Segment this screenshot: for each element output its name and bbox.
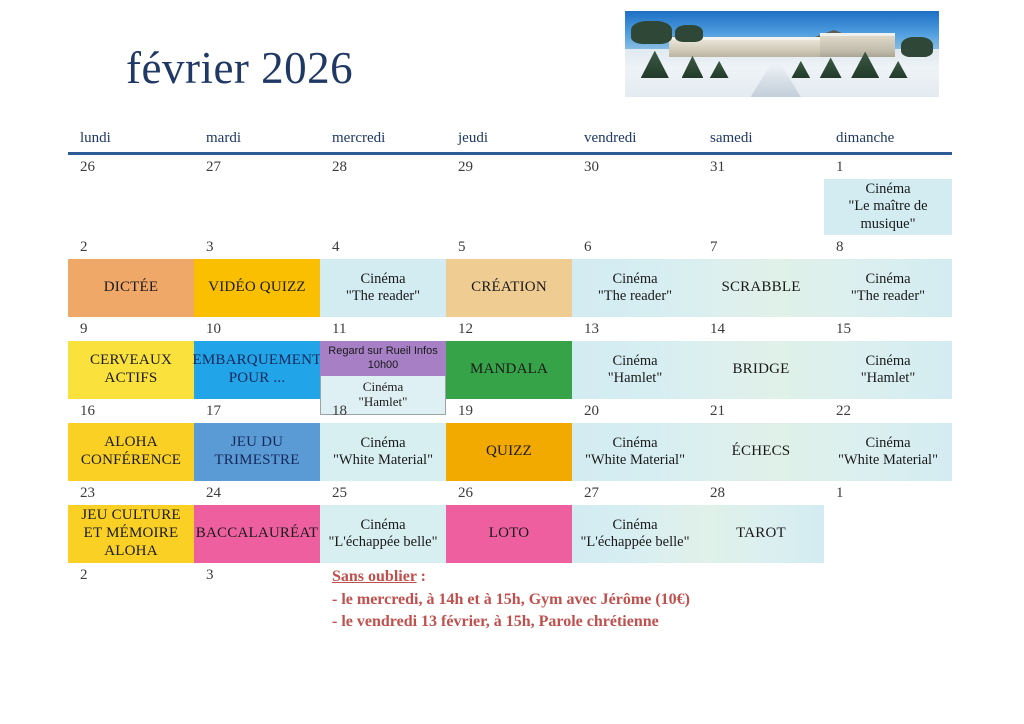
- day-cell[interactable]: 23JEU CULTUREET MÉMOIREALOHA: [68, 481, 194, 563]
- day-number: 27: [194, 155, 320, 179]
- chateau-snow-image: [625, 11, 939, 97]
- day-event-empty: [824, 587, 952, 645]
- day-cell[interactable]: 25Cinéma"L'échappée belle": [320, 481, 446, 563]
- event-line: ACTIFS: [105, 370, 158, 388]
- day-event[interactable]: CERVEAUXACTIFS: [68, 341, 194, 399]
- event-line: TRIMESTRE: [214, 452, 299, 470]
- day-cell[interactable]: 15Cinéma"Hamlet": [824, 317, 952, 399]
- day-number: 12: [446, 317, 572, 341]
- day-number: 18: [320, 399, 446, 423]
- weekday-header-vendredi: vendredi: [572, 130, 698, 152]
- day-event-empty: [446, 179, 572, 235]
- event-line: CRÉATION: [471, 279, 547, 297]
- event-line: SCRABBLE: [721, 279, 800, 297]
- event-line: Cinéma: [612, 271, 657, 288]
- day-cell[interactable]: 27: [194, 155, 320, 235]
- event-line: ALOHA: [104, 434, 158, 452]
- event-line: JEU CULTURE: [81, 507, 181, 525]
- day-number: 28: [698, 481, 824, 505]
- event-line: EMBARQUEMENT: [192, 352, 321, 370]
- day-event[interactable]: QUIZZ: [446, 423, 572, 481]
- day-cell[interactable]: 11Regard sur Rueil Infos10h00Cinéma"Haml…: [320, 317, 446, 399]
- event-line: musique": [860, 216, 915, 233]
- day-number: 3: [194, 563, 320, 587]
- event-line: "The reader": [851, 288, 925, 305]
- event-line: ET MÉMOIRE: [84, 525, 179, 543]
- day-number: 31: [698, 155, 824, 179]
- day-number: 26: [446, 481, 572, 505]
- event-line: "L'échappée belle": [328, 534, 437, 551]
- day-event[interactable]: LOTO: [446, 505, 572, 563]
- day-event-empty: [320, 179, 446, 235]
- event-line: TAROT: [736, 525, 786, 543]
- calendar-week-row: 16ALOHACONFÉRENCE17JEU DUTRIMESTRE18Ciné…: [68, 399, 952, 481]
- day-number: 9: [68, 317, 194, 341]
- calendar-week-row: 9CERVEAUXACTIFS10EMBARQUEMENTPOUR ...11R…: [68, 317, 952, 399]
- note-heading-suffix: :: [417, 568, 426, 585]
- event-line: POUR ...: [229, 370, 286, 388]
- day-number: 6: [572, 235, 698, 259]
- day-number: 28: [320, 155, 446, 179]
- day-cell[interactable]: 4Cinéma"The reader": [320, 235, 446, 317]
- event-line: BACCALAURÉAT: [196, 525, 318, 543]
- day-event[interactable]: JEU DUTRIMESTRE: [194, 423, 320, 481]
- day-cell[interactable]: 19QUIZZ: [446, 399, 572, 481]
- event-line: MANDALA: [470, 361, 548, 379]
- day-number: 4: [320, 235, 446, 259]
- day-number: 2: [68, 563, 194, 587]
- bare-tree-icon: [631, 21, 672, 43]
- day-cell[interactable]: 26: [68, 155, 194, 235]
- event-line: Cinéma: [612, 435, 657, 452]
- day-event[interactable]: Cinéma"White Material": [824, 423, 952, 481]
- day-cell[interactable]: 27Cinéma"L'échappée belle": [572, 481, 698, 563]
- day-number: 3: [194, 235, 320, 259]
- weekday-header-dimanche: dimanche: [824, 130, 952, 152]
- day-event[interactable]: EMBARQUEMENTPOUR ...: [194, 341, 320, 399]
- day-event[interactable]: Cinéma"L'échappée belle": [320, 505, 446, 563]
- event-line: Cinéma: [360, 517, 405, 534]
- day-number: 1: [824, 155, 952, 179]
- day-cell[interactable]: 18Cinéma"White Material": [320, 399, 446, 481]
- weekday-header-samedi: samedi: [698, 130, 824, 152]
- event-line: BRIDGE: [732, 361, 789, 379]
- event-line: 10h00: [322, 358, 444, 372]
- day-event[interactable]: Cinéma"L'échappée belle": [572, 505, 698, 563]
- weekday-header-mardi: mardi: [194, 130, 320, 152]
- day-event[interactable]: ALOHACONFÉRENCE: [68, 423, 194, 481]
- day-number: 15: [824, 317, 952, 341]
- event-line: Cinéma: [865, 271, 910, 288]
- event-line: "White Material": [333, 452, 433, 469]
- event-line: "Hamlet": [608, 370, 663, 387]
- day-number: 14: [698, 317, 824, 341]
- day-event[interactable]: Cinéma"The reader": [824, 259, 952, 317]
- day-event[interactable]: Cinéma"White Material": [572, 423, 698, 481]
- day-number: 16: [68, 399, 194, 423]
- day-cell[interactable]: 16ALOHACONFÉRENCE: [68, 399, 194, 481]
- day-event-empty: [698, 587, 824, 645]
- calendar-page: février 2026 lundimardimercredijeudivend…: [0, 0, 1024, 724]
- note-line: - le vendredi 13 février, à 15h, Parole …: [332, 611, 690, 634]
- day-number: 27: [572, 481, 698, 505]
- note-heading-line: Sans oublier :: [332, 566, 690, 589]
- bare-tree-icon: [901, 37, 932, 58]
- day-event[interactable]: JEU CULTUREET MÉMOIREALOHA: [68, 505, 194, 563]
- day-event[interactable]: Cinéma"Hamlet": [824, 341, 952, 399]
- day-cell[interactable]: 9CERVEAUXACTIFS: [68, 317, 194, 399]
- weekday-header-mercredi: mercredi: [320, 130, 446, 152]
- day-cell[interactable]: 3VIDÉO QUIZZ: [194, 235, 320, 317]
- note-heading: Sans oublier: [332, 568, 417, 585]
- footer-note: Sans oublier : - le mercredi, à 14h et à…: [332, 566, 690, 634]
- day-event[interactable]: Cinéma"White Material": [320, 423, 446, 481]
- day-number: 5: [446, 235, 572, 259]
- event-line: Cinéma: [360, 435, 405, 452]
- calendar-week-row: 2627282930311Cinéma"Le maître demusique": [68, 155, 952, 235]
- weekday-header-row: lundimardimercredijeudivendredisamedidim…: [68, 130, 952, 152]
- day-cell[interactable]: 6Cinéma"The reader": [572, 235, 698, 317]
- day-event-empty: [572, 179, 698, 235]
- day-cell[interactable]: 10EMBARQUEMENTPOUR ...: [194, 317, 320, 399]
- day-event-empty: [68, 179, 194, 235]
- day-cell[interactable]: 17JEU DUTRIMESTRE: [194, 399, 320, 481]
- day-number: 26: [68, 155, 194, 179]
- day-number: [824, 563, 952, 587]
- day-number: 11: [320, 317, 446, 341]
- day-cell[interactable]: 12MANDALA: [446, 317, 572, 399]
- day-event-empty: [194, 179, 320, 235]
- event-line: Cinéma: [360, 271, 405, 288]
- day-number: 8: [824, 235, 952, 259]
- chateau-building-right: [820, 33, 895, 57]
- header-photo: [617, 5, 947, 103]
- day-cell[interactable]: 7SCRABBLE: [698, 235, 824, 317]
- day-cell[interactable]: 31: [698, 155, 824, 235]
- event-line: VIDÉO QUIZZ: [208, 279, 306, 297]
- event-line: Cinéma: [865, 435, 910, 452]
- event-line: "White Material": [838, 452, 938, 469]
- day-cell[interactable]: 8Cinéma"The reader": [824, 235, 952, 317]
- event-line: LOTO: [489, 525, 530, 543]
- day-number: 22: [824, 399, 952, 423]
- day-cell[interactable]: 24BACCALAURÉAT: [194, 481, 320, 563]
- event-line: Cinéma: [612, 517, 657, 534]
- day-cell[interactable]: 20Cinéma"White Material": [572, 399, 698, 481]
- weekday-header-lundi: lundi: [68, 130, 194, 152]
- day-event[interactable]: BRIDGE: [698, 341, 824, 399]
- day-cell[interactable]: 1Cinéma"Le maître demusique": [824, 155, 952, 235]
- event-line: "L'échappée belle": [580, 534, 689, 551]
- day-cell[interactable]: [698, 563, 824, 645]
- calendar-week-row: 23JEU CULTUREET MÉMOIREALOHA24BACCALAURÉ…: [68, 481, 952, 563]
- day-event[interactable]: ÉCHECS: [698, 423, 824, 481]
- day-number: 2: [68, 235, 194, 259]
- day-event-empty: [698, 179, 824, 235]
- event-line: ÉCHECS: [732, 443, 791, 461]
- event-line: "The reader": [598, 288, 672, 305]
- event-line: "Le maître de: [848, 198, 927, 215]
- day-cell[interactable]: 1: [824, 481, 952, 563]
- event-line: "The reader": [346, 288, 420, 305]
- day-event-empty: [824, 505, 952, 563]
- day-number: 23: [68, 481, 194, 505]
- day-cell[interactable]: 13Cinéma"Hamlet": [572, 317, 698, 399]
- event-line: DICTÉE: [104, 279, 159, 297]
- event-line: Cinéma: [865, 181, 910, 198]
- event-line: "White Material": [585, 452, 685, 469]
- day-cell[interactable]: 21ÉCHECS: [698, 399, 824, 481]
- event-line: CERVEAUX: [90, 352, 172, 370]
- day-event-empty: [68, 587, 194, 645]
- day-cell[interactable]: 2: [68, 563, 194, 645]
- day-number: 20: [572, 399, 698, 423]
- day-number: 21: [698, 399, 824, 423]
- day-number: 30: [572, 155, 698, 179]
- event-line: ALOHA: [104, 543, 158, 561]
- day-cell[interactable]: 28: [320, 155, 446, 235]
- bare-tree-icon: [675, 25, 703, 42]
- day-cell[interactable]: 28TAROT: [698, 481, 824, 563]
- day-cell[interactable]: 22Cinéma"White Material": [824, 399, 952, 481]
- day-cell[interactable]: 30: [572, 155, 698, 235]
- day-number: 1: [824, 481, 952, 505]
- day-event-empty: [194, 587, 320, 645]
- day-number: 13: [572, 317, 698, 341]
- day-cell[interactable]: 14BRIDGE: [698, 317, 824, 399]
- event-line: CONFÉRENCE: [81, 452, 181, 470]
- day-number: 25: [320, 481, 446, 505]
- day-number: 7: [698, 235, 824, 259]
- day-number: 17: [194, 399, 320, 423]
- day-event[interactable]: TAROT: [698, 505, 824, 563]
- day-event[interactable]: Cinéma"The reader": [320, 259, 446, 317]
- day-cell[interactable]: 26LOTO: [446, 481, 572, 563]
- day-event[interactable]: BACCALAURÉAT: [194, 505, 320, 563]
- event-line: Cinéma: [612, 353, 657, 370]
- day-number: 24: [194, 481, 320, 505]
- day-cell[interactable]: 29: [446, 155, 572, 235]
- day-event[interactable]: SCRABBLE: [698, 259, 824, 317]
- event-line: Cinéma: [323, 379, 443, 395]
- page-title: février 2026: [126, 42, 353, 94]
- calendar-week-row: 2DICTÉE3VIDÉO QUIZZ4Cinéma"The reader"5C…: [68, 235, 952, 317]
- day-number: 10: [194, 317, 320, 341]
- day-event[interactable]: Cinéma"Hamlet": [572, 341, 698, 399]
- day-cell[interactable]: [824, 563, 952, 645]
- day-event-split[interactable]: Regard sur Rueil Infos10h00Cinéma"Hamlet…: [320, 341, 446, 399]
- day-cell[interactable]: 5CRÉATION: [446, 235, 572, 317]
- event-line: JEU DU: [231, 434, 283, 452]
- day-event[interactable]: Cinéma"The reader": [572, 259, 698, 317]
- event-line: QUIZZ: [486, 443, 532, 461]
- event-line: Cinéma: [865, 353, 910, 370]
- day-number: 19: [446, 399, 572, 423]
- day-event[interactable]: CRÉATION: [446, 259, 572, 317]
- day-number: [698, 563, 824, 587]
- day-event[interactable]: DICTÉE: [68, 259, 194, 317]
- day-event[interactable]: Cinéma"Le maître demusique": [824, 179, 952, 235]
- day-event[interactable]: VIDÉO QUIZZ: [194, 259, 320, 317]
- event-line: Regard sur Rueil Infos: [322, 344, 444, 358]
- weekday-header-jeudi: jeudi: [446, 130, 572, 152]
- event-line: "Hamlet": [861, 370, 916, 387]
- note-line: - le mercredi, à 14h et à 15h, Gym avec …: [332, 589, 690, 612]
- day-cell[interactable]: 2DICTÉE: [68, 235, 194, 317]
- day-event[interactable]: MANDALA: [446, 341, 572, 399]
- event-rueil-infos[interactable]: Regard sur Rueil Infos10h00: [320, 341, 446, 376]
- day-cell[interactable]: 3: [194, 563, 320, 645]
- day-number: 29: [446, 155, 572, 179]
